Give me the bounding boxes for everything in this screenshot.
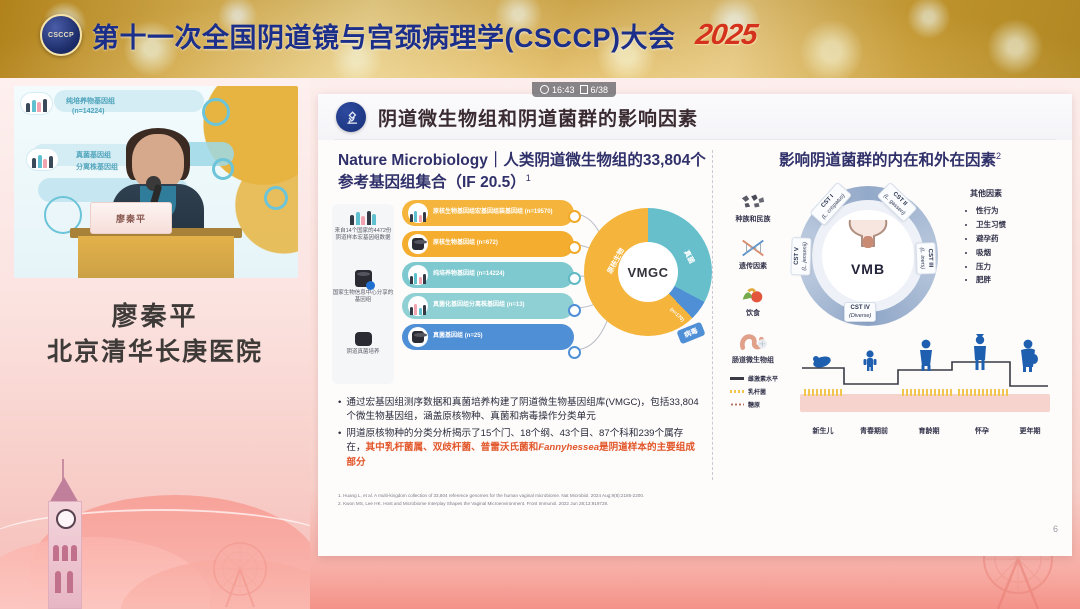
lifecycle-legend: 雌激素水平 乳杆菌 糖原 bbox=[730, 374, 778, 413]
column-divider bbox=[712, 150, 713, 480]
card-count: (n=25) bbox=[465, 333, 483, 339]
vmgc-donut-chart: VMGC 原核生物 真菌 (n=170) 病毒 bbox=[584, 208, 712, 336]
genome-card: 原核生物基因组 (n=672) bbox=[402, 231, 574, 257]
bg-people-chip bbox=[20, 92, 53, 115]
bullet-highlight-italic: Fannyhessea bbox=[538, 442, 599, 453]
banner-title: 第十一次全国阴道镜与宫颈病理学(CSCCP)大会 bbox=[92, 16, 676, 55]
source-item: 来自14个国家的4472份阴道样本宏基因组数据 bbox=[332, 208, 394, 243]
source-caption: 国家生物信息中心分享的基因组 bbox=[332, 290, 394, 305]
genome-card: 纯培养物基因组 (n=14224) bbox=[402, 262, 574, 288]
stage-label: 怀孕 bbox=[956, 426, 1008, 436]
card-label: 真菌化基因组分离株基因组 bbox=[433, 302, 505, 308]
bg-people-chip bbox=[26, 148, 59, 171]
food-icon bbox=[722, 284, 784, 306]
slide-page-number: 6 bbox=[1053, 524, 1058, 534]
factor-item: 种族和民族 bbox=[722, 190, 784, 224]
right-heading-text: 影响阴道菌群的内在和外在因素 bbox=[779, 152, 996, 169]
bullet-item: • 阴道原核物种的分类分析揭示了15个门、18个纲、43个目、87个科和239个… bbox=[338, 427, 702, 470]
vmgc-infographic: 来自14个国家的4472份阴道样本宏基因组数据 国家生物信息中心分享的基因组 阴… bbox=[332, 200, 702, 390]
card-count: (n=13) bbox=[507, 302, 525, 308]
presentation-slide[interactable]: 阴道微生物组和阴道菌群的影响因素 Nature Microbiology｜人类阴… bbox=[318, 94, 1072, 556]
genome-cards: 原核生物基因组宏基因组装基因组 (n=19570) 原核生物基因组 (n=672… bbox=[402, 200, 574, 355]
reference-list: 1. Huang L, et al. A multi-kingdom colle… bbox=[338, 492, 898, 508]
factor-label: 饮食 bbox=[722, 308, 784, 318]
other-factor-item: 吸烟 bbox=[976, 246, 1056, 260]
bullet-text: 通过宏基因组测序数据和真菌培养构建了阴道微生物基因组库(VMGC)，包括33,8… bbox=[346, 396, 702, 425]
stage-label: 新生儿 bbox=[800, 426, 846, 436]
bullet-dot: • bbox=[338, 396, 341, 425]
reference-item: 1. Huang L, et al. A multi-kingdom colle… bbox=[338, 492, 898, 500]
legend-entry: 雌激素水平 bbox=[730, 374, 778, 383]
page-indicator: 6/38 bbox=[591, 85, 609, 95]
lifecycle-plot: 新生儿 青春期前 育龄期 怀孕 更年期 bbox=[800, 350, 1050, 422]
left-bullet-list: • 通过宏基因组测序数据和真菌培养构建了阴道微生物基因组库(VMGC)，包括33… bbox=[338, 396, 702, 472]
other-factor-item: 压力 bbox=[976, 260, 1056, 274]
microscope-icon bbox=[336, 102, 366, 132]
card-label: 原核生物基因组宏基因组装基因组 bbox=[433, 209, 523, 215]
legend-entry: 糖原 bbox=[730, 400, 778, 409]
database-icon bbox=[408, 327, 428, 347]
other-factors-title: 其他因素 bbox=[970, 188, 1056, 199]
card-count: (n=14224) bbox=[477, 271, 505, 277]
reference-item: 2. Kwon MS, Lee HK. Host and Microbiome … bbox=[338, 500, 898, 508]
card-label: 原核生物基因组 bbox=[433, 240, 475, 246]
ferris-wheel-icon bbox=[180, 539, 300, 609]
nameplate-text: 廖秦平 bbox=[116, 212, 146, 225]
wheel-center-label: VMB bbox=[851, 261, 885, 277]
left-heading-sup: 1 bbox=[526, 173, 531, 183]
podium-front bbox=[78, 236, 234, 278]
other-factor-item: 避孕药 bbox=[976, 232, 1056, 246]
pages-icon bbox=[580, 85, 588, 94]
clock-icon bbox=[540, 85, 549, 94]
left-column: Nature Microbiology｜人类阴道微生物组的33,804个参考基因… bbox=[338, 150, 706, 195]
nameplate: 廖秦平 bbox=[90, 202, 172, 234]
right-heading: 影响阴道菌群的内在和外在因素2 bbox=[724, 150, 1056, 173]
genome-card: 真菌基因组 (n=25) bbox=[402, 324, 574, 350]
genome-card: 原核生物基因组宏基因组装基因组 (n=19570) bbox=[402, 200, 574, 226]
bg-circle bbox=[264, 186, 288, 210]
slide-header: 阴道微生物组和阴道菌群的影响因素 bbox=[318, 94, 1072, 140]
donut-center-label: VMGC bbox=[628, 265, 669, 280]
left-heading-text: Nature Microbiology｜人类阴道微生物组的33,804个参考基因… bbox=[338, 152, 706, 192]
genome-card: 真菌化基因组分离株基因组 (n=13) bbox=[402, 293, 574, 319]
legend-entry: 乳杆菌 bbox=[730, 387, 778, 396]
factor-item: 饮食 bbox=[722, 284, 784, 318]
bullet-dot: • bbox=[338, 427, 341, 470]
banner-year: 2025 bbox=[693, 19, 758, 52]
bullet-highlight: 其中乳杆菌属、双歧杆菌、普雷沃氏菌和 bbox=[366, 442, 539, 453]
source-caption: 来自14个国家的4472份阴道样本宏基因组数据 bbox=[332, 228, 394, 243]
slide-panel: 16:43 6/38 阴道微生物组和阴道菌群的影响因素 bbox=[310, 78, 1080, 609]
other-factor-item: 性行为 bbox=[976, 204, 1056, 218]
bg-circle bbox=[212, 158, 234, 180]
other-factor-item: 肥胖 bbox=[976, 273, 1056, 287]
people-icon bbox=[408, 265, 428, 285]
fungus-icon bbox=[355, 332, 372, 346]
database-icon bbox=[355, 270, 372, 287]
speaker-name: 廖秦平 bbox=[0, 296, 310, 333]
csccp-emblem-icon: CSCCP bbox=[40, 14, 82, 56]
other-factor-item: 卫生习惯 bbox=[976, 218, 1056, 232]
cst-label: CST V (L. jensenii) bbox=[790, 237, 812, 276]
donut-center: VMGC bbox=[618, 242, 678, 302]
bg-circle bbox=[202, 98, 230, 126]
uterus-icon bbox=[842, 216, 894, 250]
left-heading: Nature Microbiology｜人类阴道微生物组的33,804个参考基因… bbox=[338, 150, 706, 195]
slide-title: 阴道微生物组和阴道菌群的影响因素 bbox=[378, 104, 698, 131]
people-icon bbox=[408, 296, 428, 316]
card-label: 纯培养物基因组 bbox=[433, 271, 475, 277]
playback-indicator: 16:43 6/38 bbox=[532, 82, 616, 97]
conference-banner: CSCCP 第十一次全国阴道镜与宫颈病理学(CSCCP)大会 2025 bbox=[0, 0, 1080, 78]
people-icon bbox=[332, 208, 394, 225]
card-count: (n=672) bbox=[477, 240, 498, 246]
emblem-label: CSCCP bbox=[48, 32, 74, 39]
cst-label: CST III (L. iners) bbox=[915, 242, 936, 274]
database-icon bbox=[408, 234, 428, 254]
current-time: 16:43 bbox=[552, 85, 575, 95]
source-item: 国家生物信息中心分享的基因组 bbox=[332, 270, 394, 305]
card-count: (n=19570) bbox=[525, 209, 553, 215]
source-caption: 阴道真菌培养 bbox=[332, 349, 394, 356]
card-label: 真菌基因组 bbox=[433, 333, 463, 339]
decorative-background bbox=[0, 419, 310, 609]
speaker-video[interactable]: 纯培养物基因组 (n=14224) 真菌基因组 分离株基因组 廖秦平 bbox=[14, 86, 298, 278]
clock-tower-icon bbox=[44, 459, 84, 609]
bullet-item: • 通过宏基因组测序数据和真菌培养构建了阴道微生物基因组库(VMGC)，包括33… bbox=[338, 396, 702, 425]
stage-label: 青春期前 bbox=[846, 426, 902, 436]
people-icon bbox=[408, 203, 428, 223]
vmb-cst-wheel: VMB CST I (L. crispatus) CST II (L. gass… bbox=[798, 186, 938, 326]
stage-label: 更年期 bbox=[1006, 426, 1054, 436]
other-factors: 其他因素 性行为 卫生习惯 避孕药 吸烟 压力 肥胖 bbox=[956, 188, 1056, 287]
right-heading-sup: 2 bbox=[996, 151, 1001, 161]
factor-item: 遗传因素 bbox=[722, 237, 784, 271]
life-stage-figures bbox=[800, 332, 1050, 372]
speaker-organization: 北京清华长庚医院 bbox=[0, 332, 310, 368]
world-map-icon bbox=[722, 190, 784, 212]
right-column: 影响阴道菌群的内在和外在因素2 种 bbox=[724, 150, 1056, 173]
cst-label: CST IV (Diverse) bbox=[844, 302, 876, 322]
source-item: 阴道真菌培养 bbox=[332, 332, 394, 356]
stage-label: 育龄期 bbox=[902, 426, 956, 436]
factor-label: 遗传因素 bbox=[722, 261, 784, 271]
dna-icon bbox=[722, 237, 784, 259]
lifecycle-chart: 雌激素水平 乳杆菌 糖原 bbox=[724, 346, 1056, 456]
speaker-panel: 纯培养物基因组 (n=14224) 真菌基因组 分离株基因组 廖秦平 廖秦平 北… bbox=[0, 78, 310, 609]
factor-label: 种族和民族 bbox=[722, 214, 784, 224]
